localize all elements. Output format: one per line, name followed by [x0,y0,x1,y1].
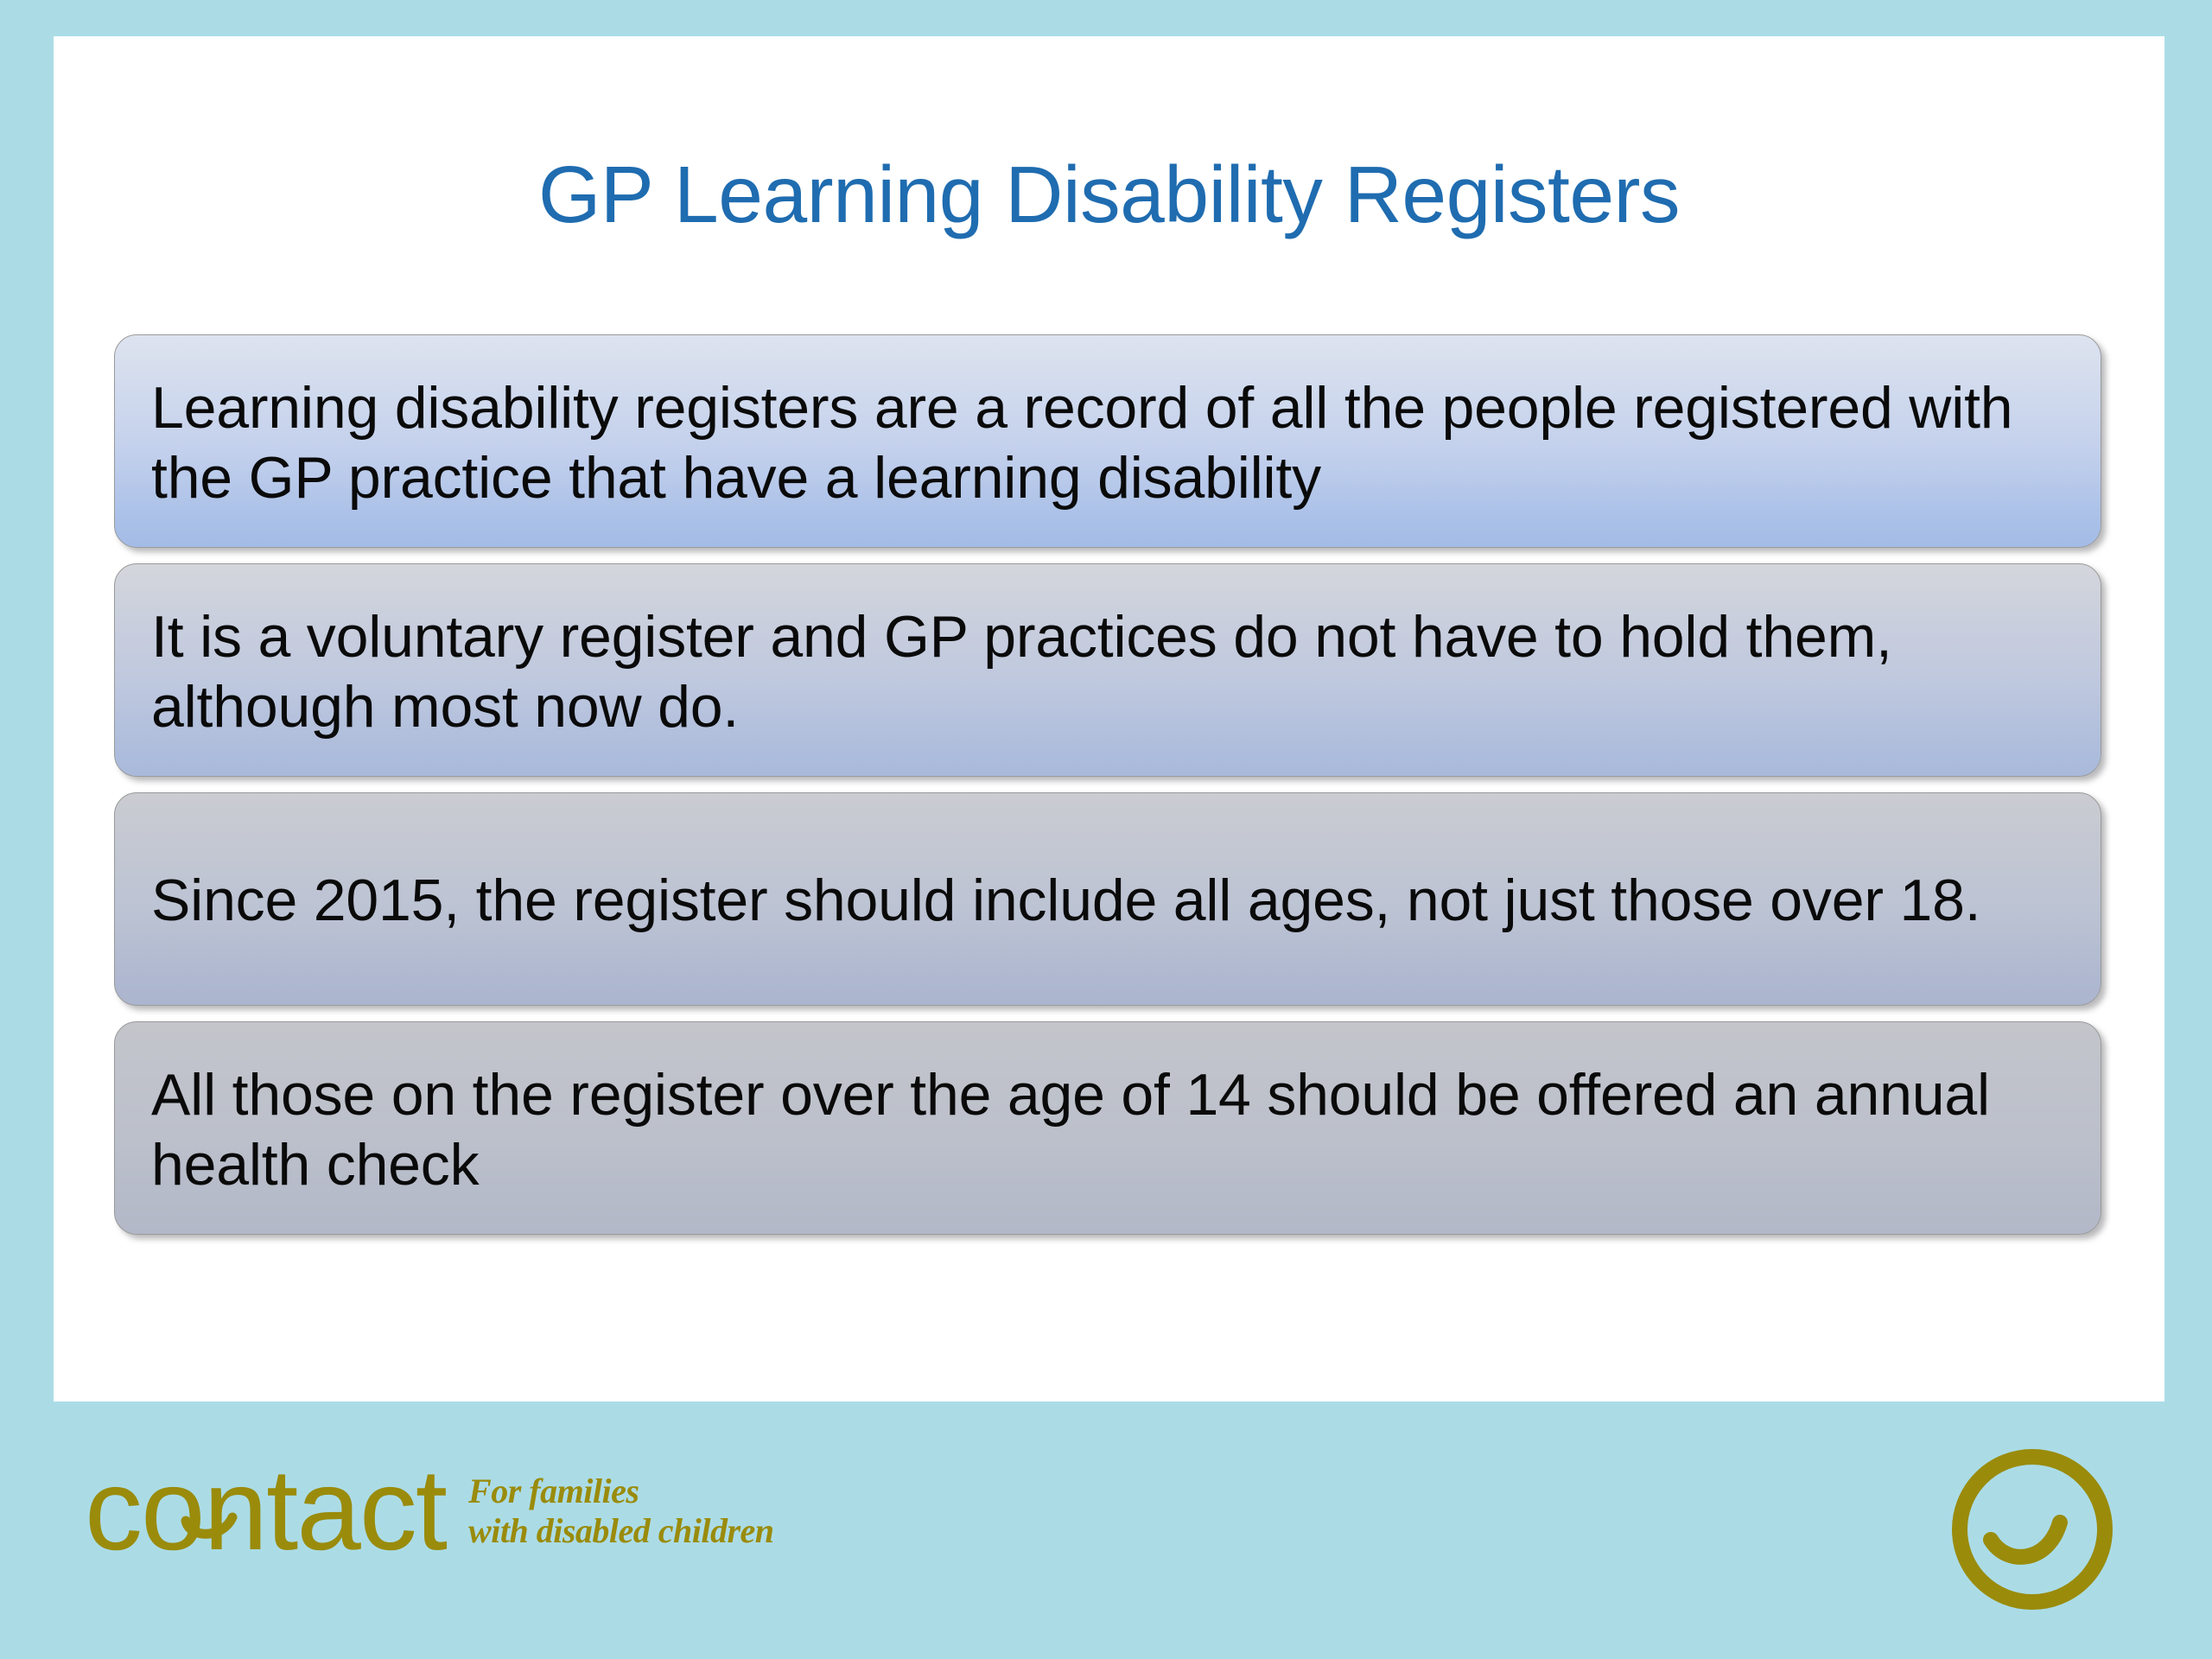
brand-wordmark: contact [85,1455,446,1565]
brand-tagline-line2: with disabled children [468,1511,774,1551]
slide: GP Learning Disability Registers Learnin… [0,0,2212,1659]
statement-box-1: Learning disability registers are a reco… [114,334,2101,548]
page-title: GP Learning Disability Registers [54,153,2164,238]
content-panel: GP Learning Disability Registers Learnin… [54,36,2164,1402]
smiley-circle-icon [1946,1443,2119,1616]
statement-box-2: It is a voluntary register and GP practi… [114,563,2101,777]
statement-text: All those on the register over the age o… [151,1060,2064,1200]
statement-list: Learning disability registers are a reco… [114,334,2101,1250]
slide-footer: contact For families with disabled child… [0,1402,2212,1659]
statement-text: Since 2015, the register should include … [151,866,1980,936]
brand-mark: contact [85,1455,446,1565]
statement-text: It is a voluntary register and GP practi… [151,602,2064,742]
brand-tagline-line1: For families [468,1471,774,1511]
brand-tagline: For families with disabled children [468,1471,774,1552]
statement-box-4: All those on the register over the age o… [114,1021,2101,1235]
statement-text: Learning disability registers are a reco… [151,373,2064,513]
contact-logo: contact For families with disabled child… [85,1455,774,1565]
statement-box-3: Since 2015, the register should include … [114,792,2101,1006]
